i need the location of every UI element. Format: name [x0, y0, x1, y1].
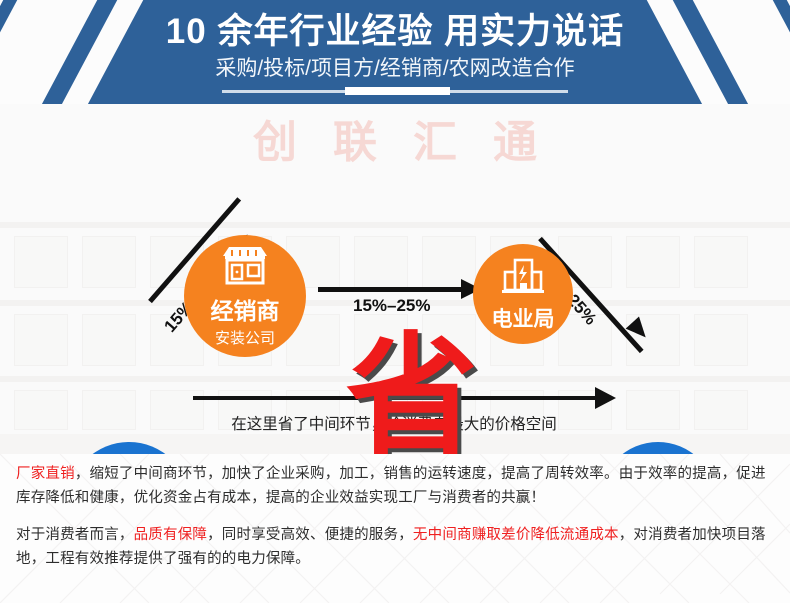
paragraph-two: 对于消费者而言，品质有保障，同时享受高效、便捷的服务，无中间商赚取差价降低流通成… — [0, 523, 790, 571]
paragraph-one-highlight: 厂家直销 — [16, 466, 75, 482]
paragraph-two-lead: 对于消费者而言， — [16, 527, 134, 543]
description-section: 厂家直销，缩短了中间商环节，加快了企业采购，加工，销售的运转速度，提高了周转效率… — [0, 454, 790, 603]
supply-chain-diagram: 创联汇通 15%–25% 15%–25% 15%–25% 在这里省了中间环节，给… — [0, 104, 790, 454]
node-power-bureau[interactable]: 电业局 — [473, 244, 573, 344]
power-building-icon — [500, 256, 546, 301]
header-divider-center — [345, 87, 450, 95]
arrow-label-dealer-to-bureau: 15%–25% — [353, 296, 431, 316]
paragraph-one: 厂家直销，缩短了中间商环节，加快了企业采购，加工，销售的运转速度，提高了周转效率… — [0, 462, 790, 510]
node-dealer-label: 经销商 — [211, 292, 280, 326]
node-dealer[interactable]: 经销商 安装公司 — [184, 235, 306, 357]
paragraph-two-highlight-2: 无中间商赚取差价降低流通成本 — [413, 527, 619, 543]
header-banner: 10 余年行业经验 用实力说话 采购/投标/项目方/经销商/农网改造合作 — [0, 0, 790, 104]
paragraph-two-mid: ，同时享受高效、便捷的服务， — [207, 527, 413, 543]
arrow-factory-to-consumer-head — [595, 387, 616, 409]
paragraph-one-rest: ，缩短了中间商环节，加快了企业采购，加工，销售的运转速度，提高了周转效率。由于效… — [16, 466, 766, 506]
header-title: 10 余年行业经验 用实力说话 — [0, 10, 790, 54]
promo-banner: 10 余年行业经验 用实力说话 采购/投标/项目方/经销商/农网改造合作 — [0, 0, 790, 603]
save-character: 省 — [332, 332, 492, 454]
paragraph-two-highlight-1: 品质有保障 — [134, 527, 208, 543]
header-subtitle: 采购/投标/项目方/经销商/农网改造合作 — [0, 56, 790, 82]
arrow-dealer-to-bureau-line — [318, 287, 463, 292]
node-dealer-sublabel: 安装公司 — [215, 327, 275, 348]
node-power-bureau-label: 电业局 — [492, 303, 555, 333]
background-watermark: 创联汇通 — [0, 106, 790, 170]
storefront-icon — [219, 245, 271, 290]
